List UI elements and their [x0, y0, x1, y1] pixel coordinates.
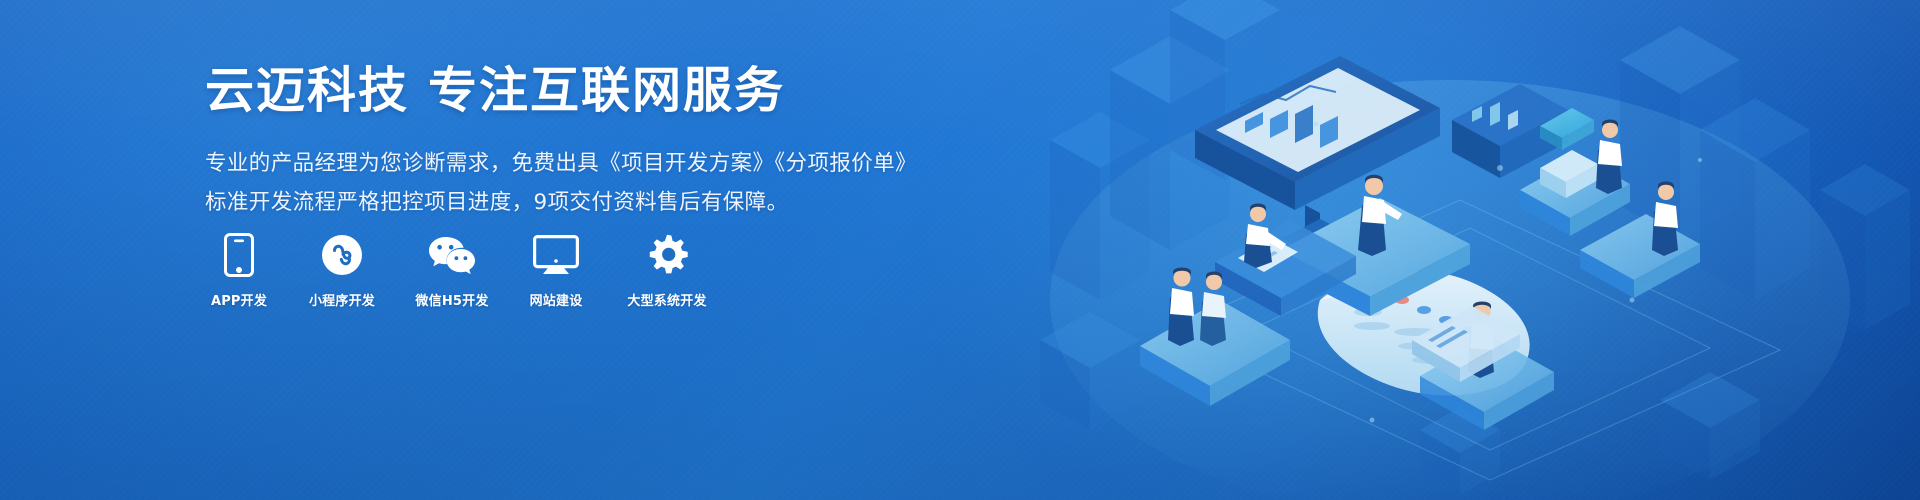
service-item-website[interactable]: 网站建设	[519, 232, 593, 309]
service-list: APP开发 小程序开发	[203, 232, 717, 309]
banner-subtitle-line-2: 标准开发流程严格把控项目进度，9项交付资料售后有保障。	[205, 185, 965, 222]
promo-banner: 云迈科技 专注互联网服务 专业的产品经理为您诊断需求，免费出具《项目开发方案》《…	[0, 0, 1920, 500]
page-title: 云迈科技 专注互联网服务	[205, 62, 965, 120]
illustration-isometric-scene	[1020, 0, 1920, 500]
mini-program-icon	[321, 232, 363, 278]
gear-icon	[646, 232, 688, 278]
service-label: 微信H5开发	[415, 290, 488, 309]
service-label: 小程序开发	[309, 290, 375, 309]
wechat-icon	[427, 232, 477, 278]
service-label: APP开发	[211, 290, 267, 309]
mobile-phone-icon	[224, 232, 254, 278]
service-label: 网站建设	[530, 290, 583, 309]
service-item-large-system[interactable]: 大型系统开发	[617, 232, 717, 309]
monitor-icon	[533, 232, 579, 278]
banner-subtitle-line-1: 专业的产品经理为您诊断需求，免费出具《项目开发方案》《分项报价单》	[205, 146, 965, 183]
service-item-wechat-h5[interactable]: 微信H5开发	[409, 232, 495, 309]
service-item-mini-program[interactable]: 小程序开发	[299, 232, 385, 309]
service-label: 大型系统开发	[627, 290, 706, 309]
banner-content: 云迈科技 专注互联网服务 专业的产品经理为您诊断需求，免费出具《项目开发方案》《…	[205, 62, 965, 222]
service-item-app[interactable]: APP开发	[203, 232, 275, 309]
